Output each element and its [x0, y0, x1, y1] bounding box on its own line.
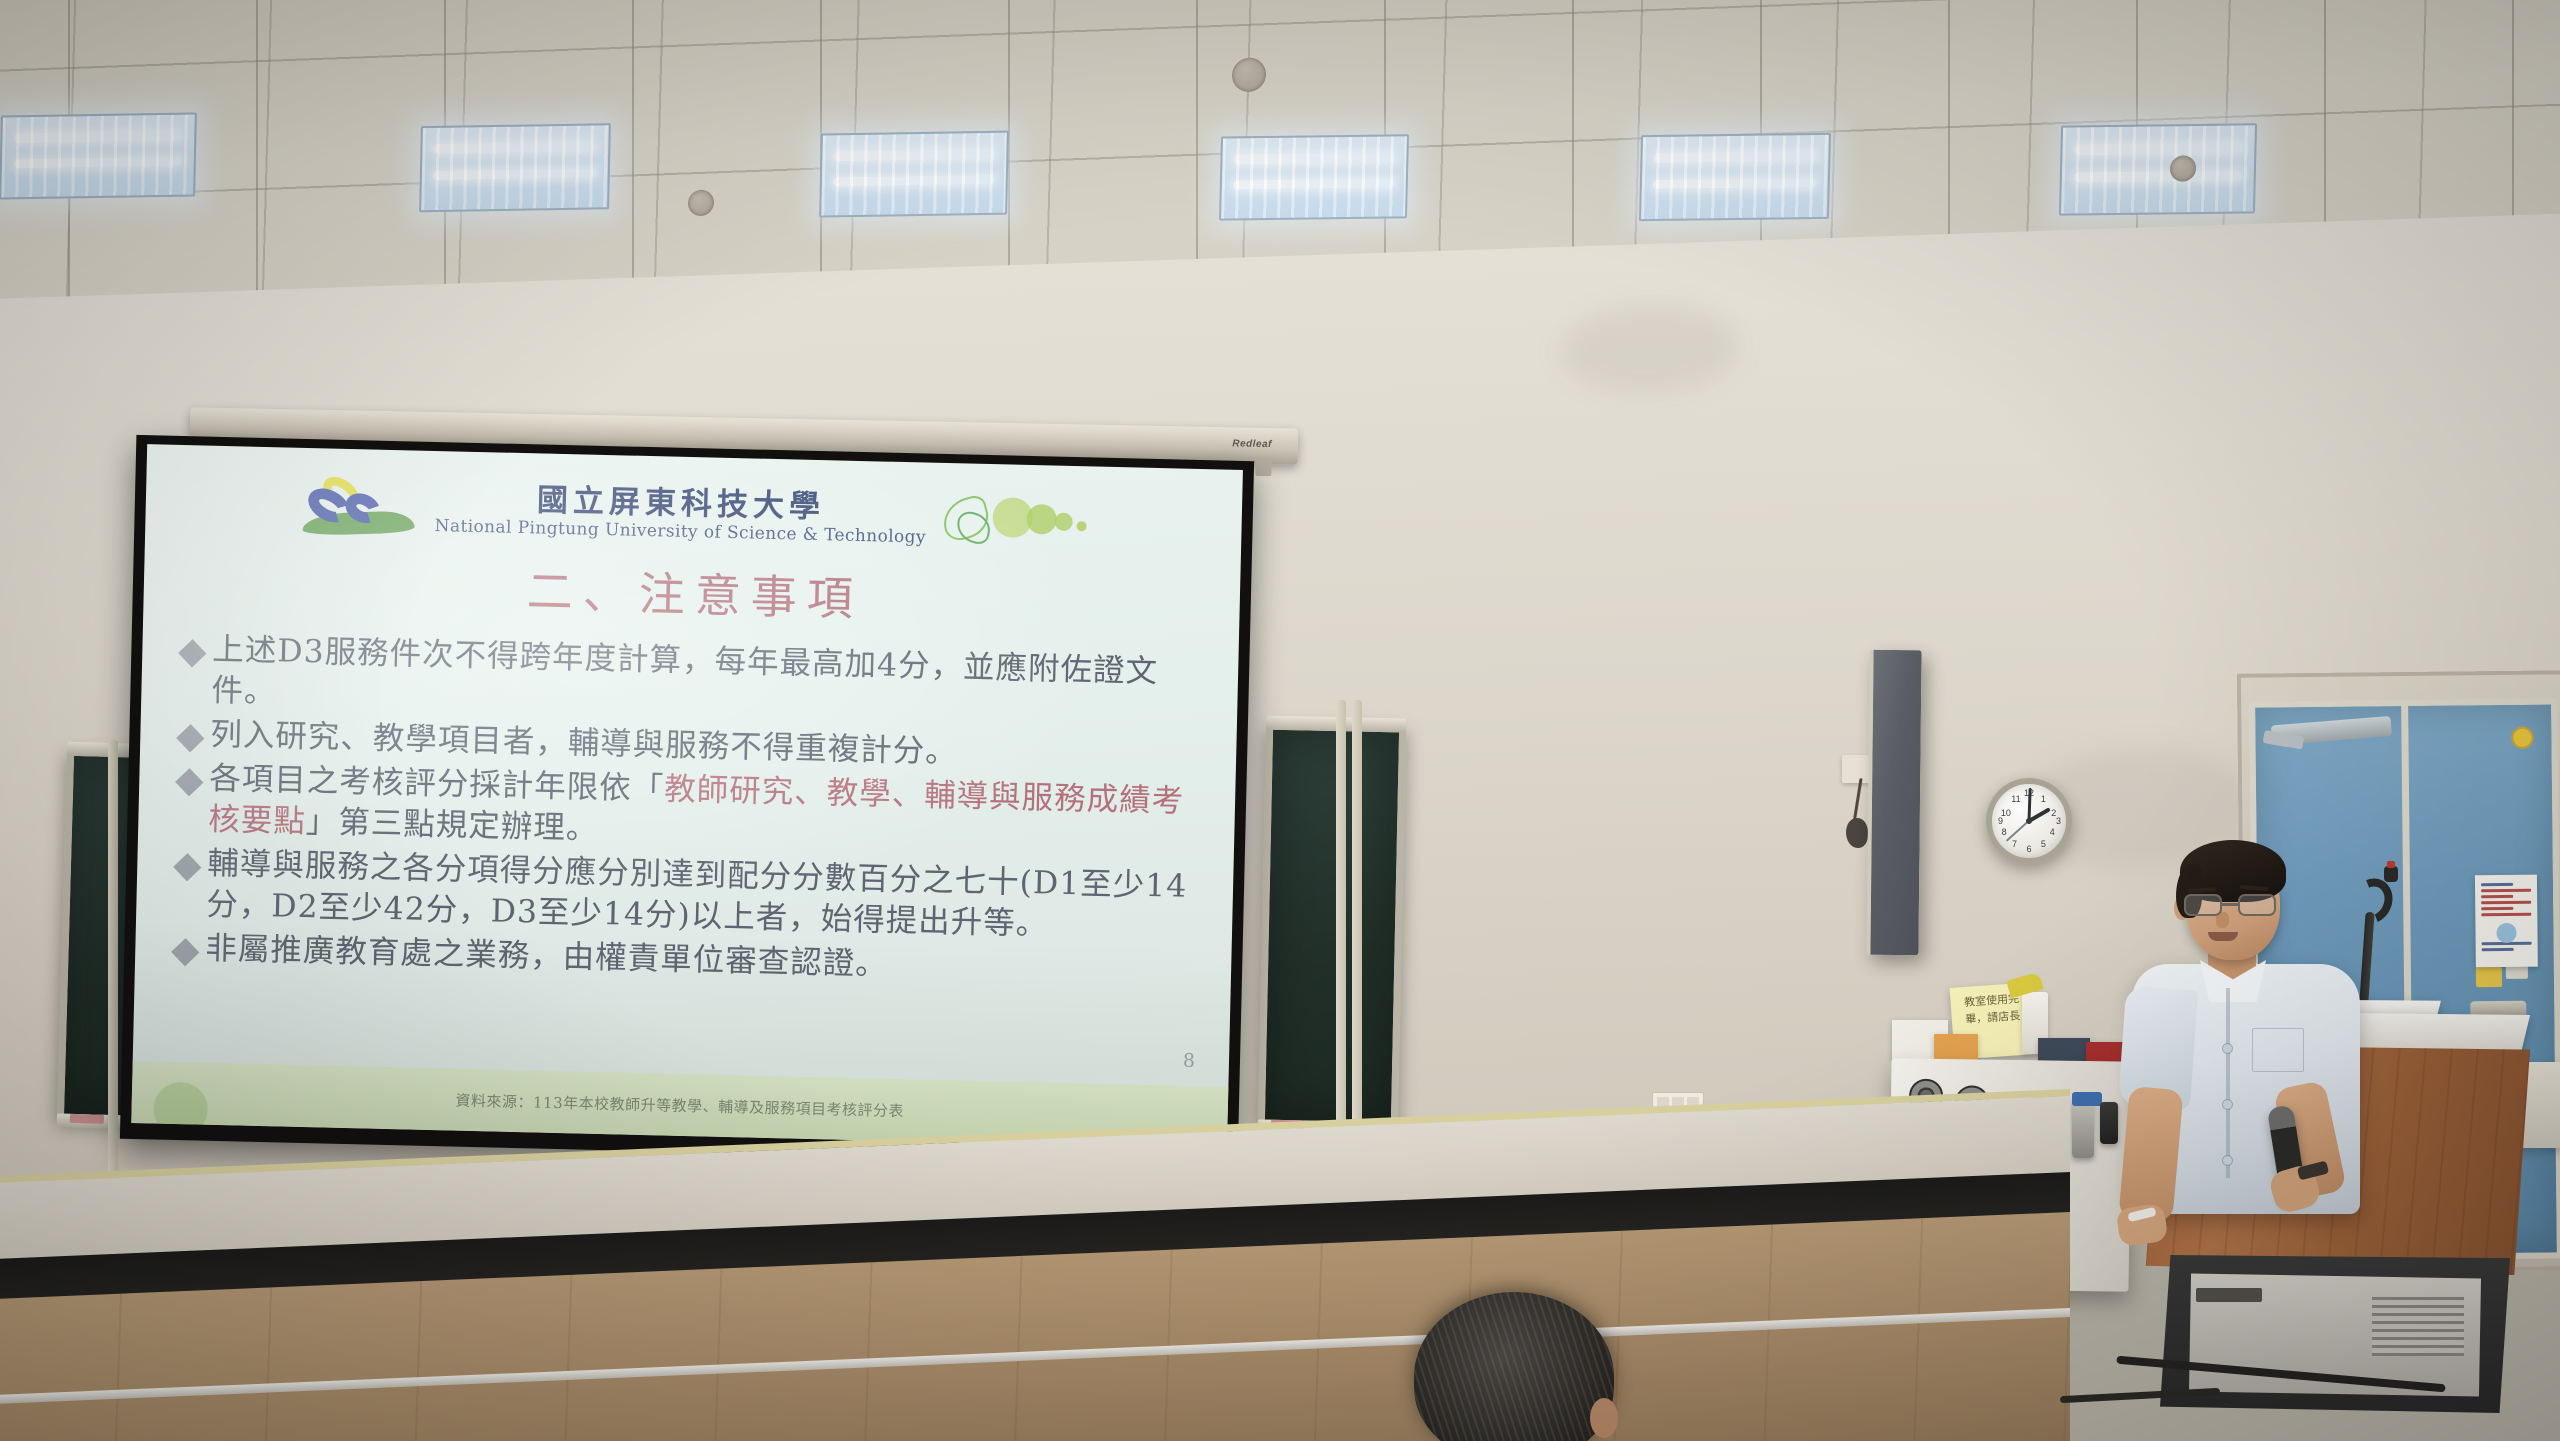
microphone-head-icon	[2384, 866, 2398, 882]
lecture-hall-scene: Redleaf 國立屏東科技大學 National Pingtung Unive…	[0, 0, 2560, 1441]
dispenser-lever-cold[interactable]	[2072, 1092, 2102, 1106]
door-notice-poster	[2475, 875, 2538, 968]
slide-source-note: 資料來源：113年本校教師升等教學、輔導及服務項目考核評分表	[455, 1089, 904, 1121]
audience-member-ear	[1590, 1398, 1618, 1438]
wall-column-speaker	[1866, 650, 1921, 956]
slide-content: 國立屏東科技大學 National Pingtung University of…	[131, 444, 1243, 1149]
clock-second-hand	[2006, 820, 2029, 841]
wall-conduit-pipe	[1352, 700, 1362, 1170]
fluorescent-light-panel	[1639, 133, 1831, 221]
presenter	[2122, 838, 2372, 1278]
screen-brand-label: Redleaf	[1232, 438, 1272, 450]
supply-box	[2038, 1038, 2090, 1062]
bullet-diamond-icon	[171, 938, 199, 966]
projected-slide: 國立屏東科技大學 National Pingtung University of…	[131, 444, 1243, 1149]
fluorescent-light-panel	[0, 112, 197, 199]
bullet-diamond-icon	[173, 853, 201, 881]
dispenser-tap[interactable]	[2100, 1102, 2118, 1144]
door-sticker-icon	[2511, 727, 2533, 749]
projection-screen-frame: 國立屏東科技大學 National Pingtung University of…	[120, 435, 1254, 1165]
projection-screen-assembly: Redleaf 國立屏東科技大學 National Pingtung Unive…	[190, 418, 1310, 1178]
slide-bullet-list: 上述D3服務件次不得跨年度計算，每年最高加4分，並應附佐證文件。 列入研究、教學…	[169, 629, 1211, 993]
fluorescent-light-panel	[2059, 123, 2257, 215]
bullet-diamond-icon	[178, 639, 206, 667]
bullet-diamond-icon	[175, 768, 203, 796]
wall-clock: 12 3 6 9 1 2 4 5 7 8 10 11	[1986, 778, 2072, 864]
wall-conduit-pipe	[108, 740, 118, 1180]
presenter-left-arm	[2118, 1086, 2183, 1222]
supply-box	[1934, 1034, 1978, 1060]
fluorescent-light-panel	[1219, 134, 1409, 220]
butterfly-decoration-icon	[940, 492, 1091, 554]
wall-conduit-pipe	[1336, 700, 1346, 1170]
dispenser-tap[interactable]	[2072, 1098, 2094, 1158]
fluorescent-light-panel	[819, 131, 1009, 218]
speaker-cable-coil	[1846, 818, 1868, 848]
fluorescent-light-panel	[419, 123, 611, 212]
university-name-block: 國立屏東科技大學 National Pingtung University of…	[434, 483, 927, 547]
podium-drawer[interactable]	[2196, 1288, 2262, 1302]
door-warning-tag	[2476, 967, 2502, 987]
podium-vent-grille	[2372, 1296, 2464, 1356]
bullet-diamond-icon	[176, 724, 204, 752]
glasses-icon	[2182, 894, 2280, 916]
slide-page-number: 8	[1183, 1050, 1196, 1072]
university-logo-icon	[302, 477, 421, 538]
